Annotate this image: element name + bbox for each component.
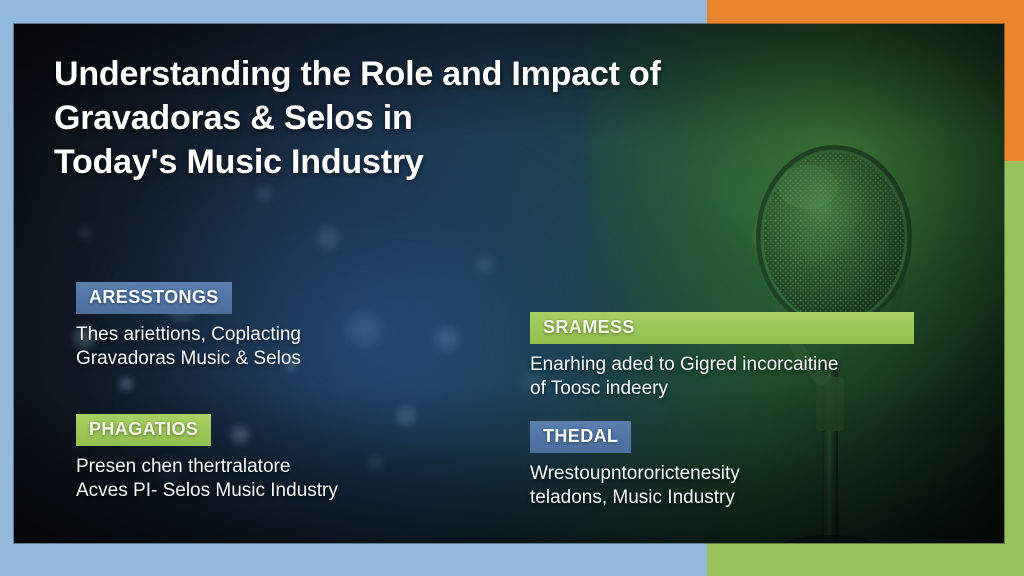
content-block-aresstongs: ARESSTONGS Thes ariettions, Coplacting G…	[76, 282, 476, 371]
block-body-text: Wrestoupntororictenesity teladons, Music…	[530, 462, 930, 510]
page-title: Understanding the Role and Impact of Gra…	[54, 52, 754, 185]
content-block-phagatios: PHAGATIOS Presen chen thertralatore Acve…	[76, 414, 476, 503]
content-block-thedal: THEDAL Wrestoupntororictenesity teladons…	[530, 421, 930, 510]
block-body-text: Thes ariettions, Coplacting Gravadoras M…	[76, 323, 476, 371]
content-block-sramess: SRAMESS Enarhing aded to Gigred incorcai…	[530, 312, 930, 401]
block-body-text: Enarhing aded to Gigred incorcaitine of …	[530, 353, 930, 401]
block-body-text: Presen chen thertralatore Acves PI- Selo…	[76, 455, 476, 503]
slide-canvas: Understanding the Role and Impact of Gra…	[0, 0, 1024, 576]
block-chip-label: SRAMESS	[530, 312, 914, 344]
block-chip-label: ARESSTONGS	[76, 282, 232, 314]
block-chip-label: THEDAL	[530, 421, 631, 453]
slide-card: Understanding the Role and Impact of Gra…	[14, 24, 1004, 543]
block-chip-label: PHAGATIOS	[76, 414, 211, 446]
